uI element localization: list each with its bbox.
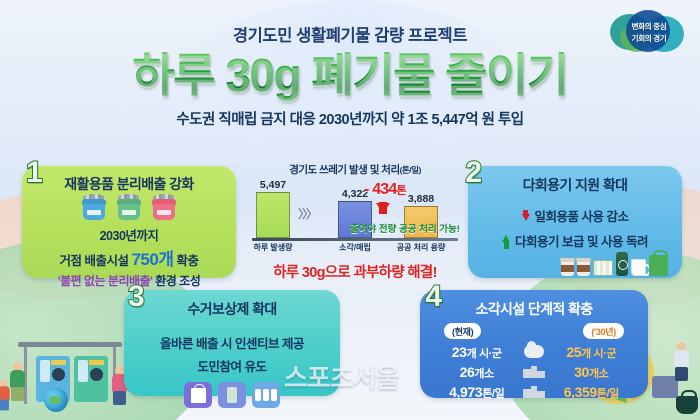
chart-bar-label-0: 하루 발생량: [253, 242, 292, 253]
chart-delta-value: 434: [372, 181, 396, 198]
recycling-bin-pink-icon: [151, 199, 177, 221]
panel-1-title: 재활용품 분리배출 강화: [30, 174, 228, 194]
recycling-kiosk-green: [74, 356, 108, 402]
can-glyph: [218, 382, 246, 408]
panel-4-header-current: (현재): [444, 323, 481, 339]
table-row: 26개소 30개소: [428, 362, 640, 382]
person-legs: [11, 387, 24, 401]
incinerator-shape: [523, 385, 545, 398]
kiosk-display: [51, 360, 66, 365]
eco-bag-icon: [649, 255, 668, 276]
roll-shape: [255, 389, 277, 401]
arrow-down-red-icon: [522, 214, 530, 221]
panel-2-row-1: 일회용품 사용 감소: [476, 206, 674, 225]
person-head: [677, 342, 686, 351]
infographic-poster: 경기도민 생활폐기물 감량 프로젝트 하루 30g 폐기물 줄이기 수도권 직매…: [0, 0, 700, 420]
panel-4-row-0-future-unit: 개 시·군: [581, 348, 616, 360]
factory-shape: [523, 365, 545, 378]
bag-shape: [191, 388, 206, 403]
chart-delta-sign: -: [364, 181, 369, 198]
chart-bar-label-2: 공공 처리 용량: [397, 242, 446, 253]
chart-title: 경기도 쓰레기 발생 및 처리(톤/일): [252, 162, 458, 177]
logo-line-2: 기회의 경기: [632, 33, 667, 44]
panel-4-row-1-future: 30개소: [549, 364, 634, 381]
panel-4-row-2-current: 4,973톤/일: [434, 384, 519, 401]
logo-line-1: 변화의 중심: [632, 21, 667, 32]
panel-4-row-0-future-value: 25: [566, 344, 581, 360]
panel-4-title: 소각시설 단계적 확충: [428, 299, 640, 319]
recycling-station: [24, 342, 116, 404]
panel-2-number: 2: [465, 158, 482, 188]
chart-note: 줄여야 전량 공공 처리 가능!: [350, 221, 460, 235]
station-roof: [18, 342, 122, 347]
panel-2-row-2: 다회용기 보급 및 사용 독려: [476, 231, 674, 250]
incinerator-icon: [519, 385, 548, 400]
lunchbox-icon: [593, 260, 613, 276]
person-torso: [10, 370, 25, 388]
panel-3-line-1: 올바른 배출 시 인센티브 제공: [132, 333, 332, 352]
bin-label: [122, 210, 136, 215]
panel-4-row-2-current-value: 4,973: [449, 384, 482, 400]
gyeonggi-logo: 변화의 중심 기회의 경기: [610, 8, 688, 56]
panel-3-title: 수거보상제 확대: [132, 299, 332, 319]
handbag-icon: [676, 396, 698, 414]
can-bottle-icon: [218, 382, 246, 408]
recycling-station-illustration: [0, 318, 140, 420]
panel-2-row-1-label: 일회용품 사용 감소: [535, 206, 629, 225]
bin-label: [157, 210, 171, 215]
bin-label: [87, 210, 101, 215]
coffee-cup-icon: [561, 258, 574, 276]
panel-recycling-separation: 재활용품 분리배출 강화 2030년까지 거점 배출시설 750: [22, 166, 236, 278]
can-shape: [227, 387, 237, 403]
panel-4-row-1-future-unit: 개소: [589, 368, 608, 380]
kiosk-deposit-slot: [90, 368, 103, 381]
panel-reusable-container-support: 다회용기 지원 확대 일회용품 사용 감소 다회용기 보급 및 사용 독려: [468, 166, 682, 278]
chart-plot-area: 5,497 하루 발생량 〉〉〉 4,322 소각/매립 3,888 공공 처리…: [252, 181, 458, 255]
panel-4-row-1-current: 26개소: [434, 364, 519, 381]
panel-4-table-rows: 23개 시·군 25개 시·군 26개소 30개소 4,973톤/일 6,359…: [428, 342, 640, 402]
person-torso: [674, 350, 689, 368]
chart-delta-annotation: - 434톤: [364, 181, 406, 199]
toilet-paper-icon: [252, 382, 280, 408]
panel-incineration-facility-expansion: 소각시설 단계적 확충 (현재) ('30년) 23개 시·군 25개 시·군 …: [420, 290, 648, 398]
plastic-bag-icon: [184, 382, 212, 408]
recycling-bin-green-icon: [116, 199, 142, 221]
panel-4-row-2-current-unit: 톤/일: [482, 388, 504, 400]
earth-globe-icon: [44, 388, 68, 412]
factory-icon: [519, 365, 548, 380]
arrow-up-green-icon: [502, 235, 510, 242]
person-legs: [113, 391, 126, 405]
panel-4-row-0-current-value: 23: [452, 344, 467, 360]
chart-bar-daily-generation: 5,497 하루 발생량: [256, 192, 290, 238]
recycling-bin-blue-icon: [81, 199, 107, 221]
panel-4-row-0-current: 23개 시·군: [434, 344, 519, 361]
panel-1-line-2-prefix: 거점 배출시설: [60, 254, 132, 268]
panel-4-row-2-future: 6,359톤/일: [549, 384, 634, 401]
panel-1-number: 1: [26, 158, 43, 188]
chart-baseline-axis: [252, 238, 458, 241]
panel-1-line-2-suffix: 확충: [173, 254, 198, 268]
page-title: 하루 30g 폐기물 줄이기: [0, 50, 700, 102]
logo-text: 변화의 중심 기회의 경기: [610, 8, 688, 56]
panel-4-header-2030: ('30년): [583, 323, 624, 339]
roll-glyph: [252, 382, 280, 408]
chart-down-arrow-icon: [376, 203, 390, 214]
table-row: 23개 시·군 25개 시·군: [428, 342, 640, 362]
tumbler-icon: [616, 252, 628, 276]
panel-4-row-0-future: 25개 시·군: [549, 344, 634, 361]
chart-footer-message: 하루 30g으로 과부하량 해결!: [252, 261, 458, 282]
chart-bar-column: [256, 192, 290, 238]
panel-4-row-2-future-value: 6,359: [564, 384, 597, 400]
cloud-shape: [524, 345, 544, 358]
kiosk-screen: [40, 360, 50, 382]
panel-4-row-2-future-unit: 톤/일: [597, 388, 619, 400]
person-head: [115, 366, 124, 375]
panel-1-facility-count: 750개: [131, 250, 173, 269]
poster-header: 경기도민 생활폐기물 감량 프로젝트 하루 30g 폐기물 줄이기 수도권 직매…: [0, 0, 700, 129]
panel-4-number: 4: [425, 282, 442, 312]
person-head: [13, 362, 22, 371]
stool-shape: [652, 376, 678, 398]
chart-title-unit: (톤/일): [400, 165, 421, 175]
header-subtitle: 수도권 직매립 금지 대응 2030년까지 약 1조 5,447억 원 투입: [0, 108, 700, 129]
mug-icon: [631, 259, 646, 276]
person-legs: [675, 367, 688, 381]
panel-1-line-2: 거점 배출시설 750개 확충: [30, 245, 228, 270]
chart-bar-value-0: 5,497: [260, 179, 286, 191]
person-head: [0, 380, 7, 387]
kiosk-screen: [78, 360, 88, 382]
panel-2-row-2-label: 다회용기 보급 및 사용 독려: [515, 231, 648, 250]
header-kicker: 경기도민 생활폐기물 감량 프로젝트: [0, 22, 700, 46]
coffee-cup-icon: [577, 258, 590, 276]
reusable-containers-illustration: [561, 252, 668, 276]
kiosk-deposit-slot: [52, 368, 65, 381]
waste-chart: 경기도 쓰레기 발생 및 처리(톤/일) 5,497 하루 발생량 〉〉〉 4,…: [252, 162, 458, 280]
panel-4-row-0-current-unit: 개 시·군: [467, 348, 502, 360]
station-post: [113, 347, 116, 404]
bag-glyph: [184, 382, 212, 408]
chart-bar-label-1: 소각/매립: [339, 242, 371, 253]
recycling-bins-illustration: [30, 199, 228, 221]
panel-2-title: 다회용기 지원 확대: [476, 175, 674, 195]
panel-1-line-1: 2030년까지: [30, 225, 228, 244]
panel-4-row-1-current-unit: 개소: [474, 368, 493, 380]
panel-4-table-headers: (현재) ('30년): [428, 323, 640, 339]
panel-4-row-1-current-value: 26: [460, 364, 475, 380]
kiosk-display: [89, 360, 104, 365]
person-torso: [0, 386, 10, 400]
chart-delta-unit: 톤: [396, 185, 405, 197]
table-row: 4,973톤/일 6,359톤/일: [428, 382, 640, 402]
panel-3-number: 3: [128, 282, 145, 312]
panel-1-line-3-rest: 환경 조성: [152, 274, 200, 288]
chart-bar-value-2: 3,888: [408, 193, 434, 205]
person-legs: [0, 400, 9, 411]
chart-chevrons-icon: 〉〉〉: [298, 205, 316, 222]
watermark: 스포츠서울: [284, 358, 399, 395]
chart-title-text: 경기도 쓰레기 발생 및 처리: [289, 164, 399, 176]
panel-4-comparison-table: (현재) ('30년) 23개 시·군 25개 시·군 26개소 30개소 4,…: [428, 323, 640, 402]
panel-4-row-1-future-value: 30: [574, 364, 589, 380]
cloud-icon: [519, 345, 548, 360]
station-post: [24, 347, 27, 404]
recycling-kiosk-blue: [36, 356, 70, 402]
